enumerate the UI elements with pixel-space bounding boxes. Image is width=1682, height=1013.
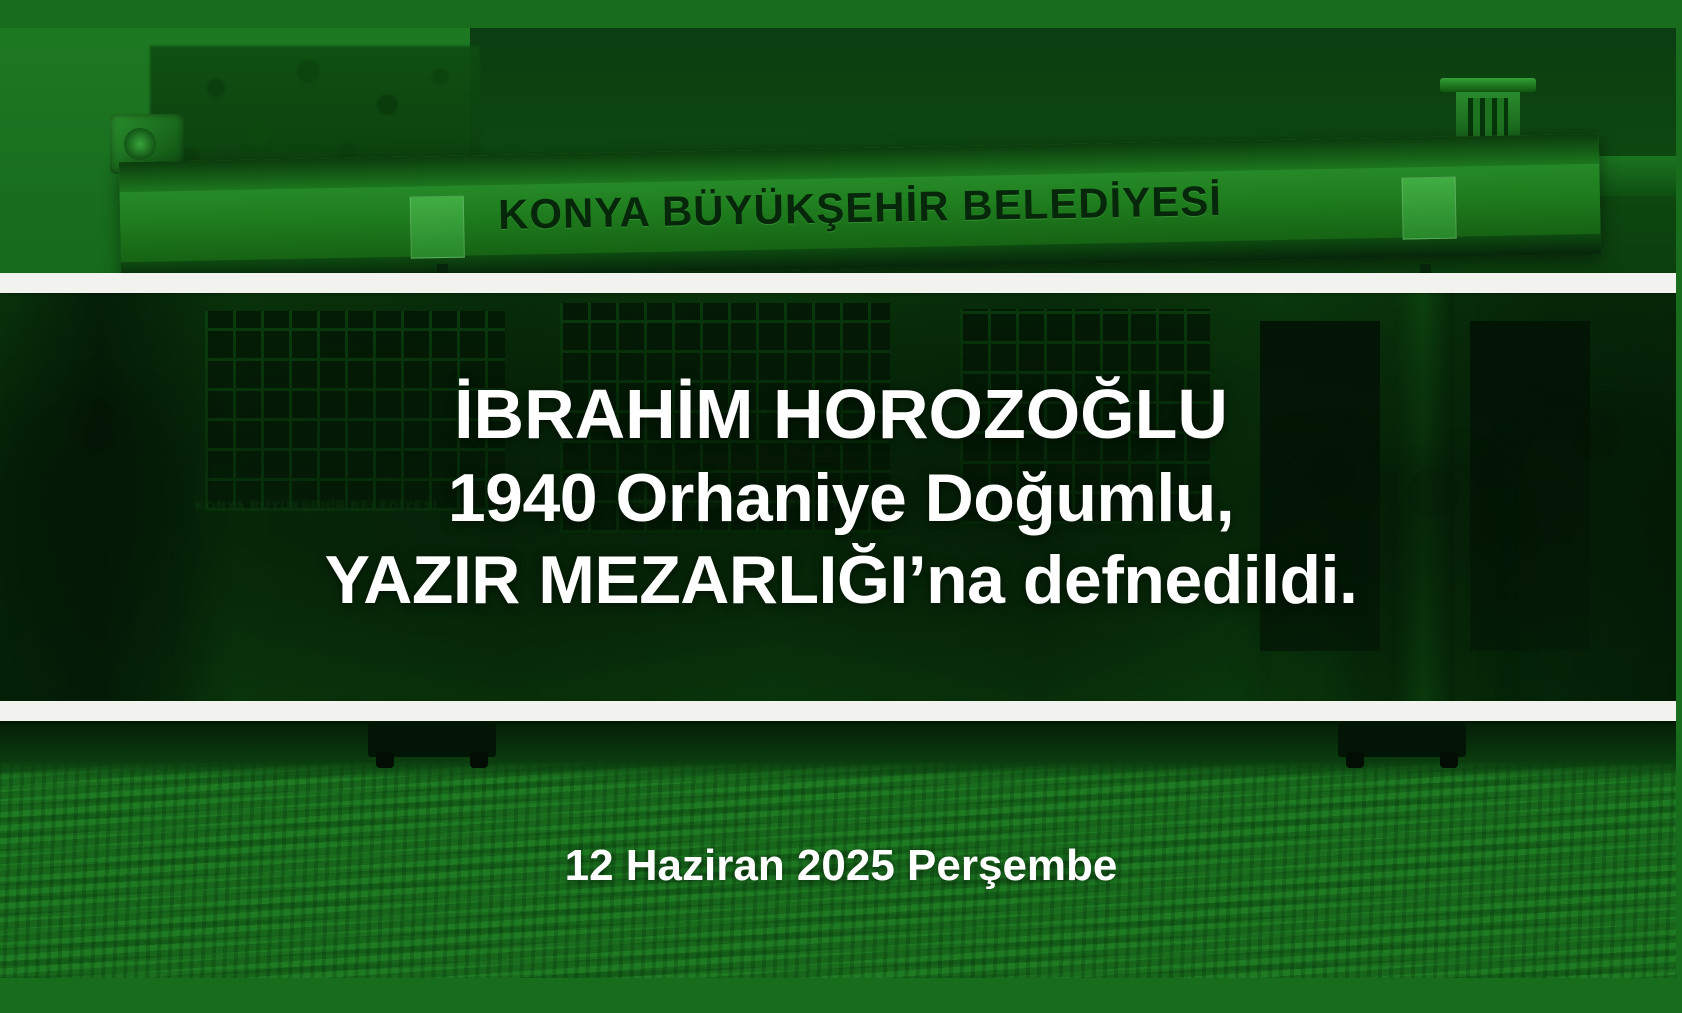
photo-band-floor: 12 Haziran 2025 Perşembe	[0, 721, 1682, 978]
deceased-name: İBRAHİM HOROZOĞLU	[454, 373, 1228, 456]
birth-info: 1940 Orhaniye Doğumlu,	[448, 458, 1234, 538]
coffin-stand-leg-right	[1420, 264, 1431, 273]
photo-band-hearse: KONYA BÜYÜKŞEHİR BELEDİYESİ	[0, 28, 1682, 273]
burial-info: YAZIR MEZARLIĞI’na defnedildi.	[325, 540, 1358, 620]
publication-date: 12 Haziran 2025 Perşembe	[565, 841, 1118, 891]
divider-bottom	[0, 701, 1682, 721]
coffin-stand-leg-left	[437, 264, 448, 273]
frame-bar-top	[0, 0, 1682, 28]
photo-band-courtyard: KONYA BÜYÜKŞEHİR BELEDİYESİ KONYA BÜYÜKŞ…	[0, 293, 1682, 701]
frame-bar-bottom	[0, 978, 1682, 1013]
frame-bar-right	[1676, 0, 1682, 1013]
divider-top	[0, 273, 1682, 293]
memorial-poster: KONYA BÜYÜKŞEHİR BELEDİYESİ KONYA BÜYÜKŞ…	[0, 0, 1682, 1013]
headline-block: İBRAHİM HOROZOĞLU 1940 Orhaniye Doğumlu,…	[0, 293, 1682, 701]
date-block: 12 Haziran 2025 Perşembe	[0, 721, 1682, 978]
